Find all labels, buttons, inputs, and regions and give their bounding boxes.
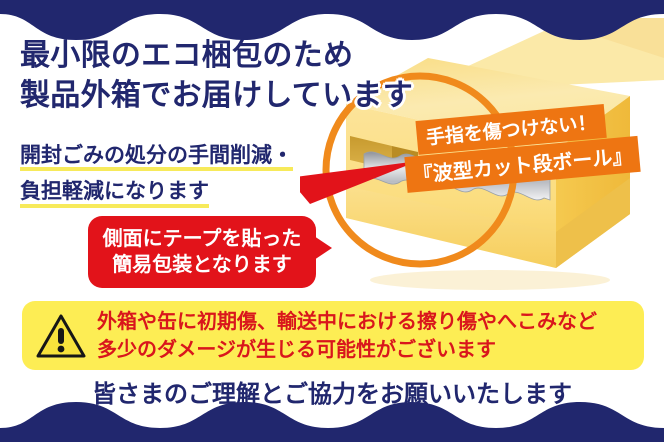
caution-panel: 外箱や缶に初期傷、輸送中における擦り傷やへこみなど 多少のダメージが生じる可能性…: [22, 301, 644, 370]
bubble-line-1: 側面にテープを貼った: [103, 226, 302, 252]
warning-triangle-icon: [36, 314, 86, 359]
red-callout-bubble: 側面にテープを貼った 簡易包装となります: [88, 216, 316, 288]
subtext-line-1: 開封ごみの処分の手間削減・: [20, 140, 293, 171]
subtext-row-2: 負担軽減になります: [20, 176, 293, 212]
subtext-line-2: 負担軽減になります: [20, 176, 209, 207]
headline: 最小限のエコ梱包のため 製品外箱でお届けしています: [20, 36, 413, 116]
bubble-line-2: 簡易包装となります: [112, 252, 291, 278]
notice-banner: 最小限のエコ梱包のため 製品外箱でお届けしています 開封ごみの処分の手間削減・ …: [0, 0, 664, 442]
top-wave-decoration: [0, 0, 664, 44]
bottom-wave-decoration: [0, 398, 664, 442]
subtext: 開封ごみの処分の手間削減・ 負担軽減になります: [20, 140, 293, 213]
headline-line-2: 製品外箱でお届けしています: [20, 76, 413, 116]
caution-line-1: 外箱や缶に初期傷、輸送中における擦り傷やへこみなど: [97, 308, 597, 335]
bubble-tail-icon: [314, 236, 332, 260]
caution-line-2: 多少のダメージが生じる可能性がございます: [97, 336, 597, 363]
subtext-row-1: 開封ごみの処分の手間削減・: [20, 140, 293, 176]
caution-text: 外箱や缶に初期傷、輸送中における擦り傷やへこみなど 多少のダメージが生じる可能性…: [97, 308, 597, 362]
